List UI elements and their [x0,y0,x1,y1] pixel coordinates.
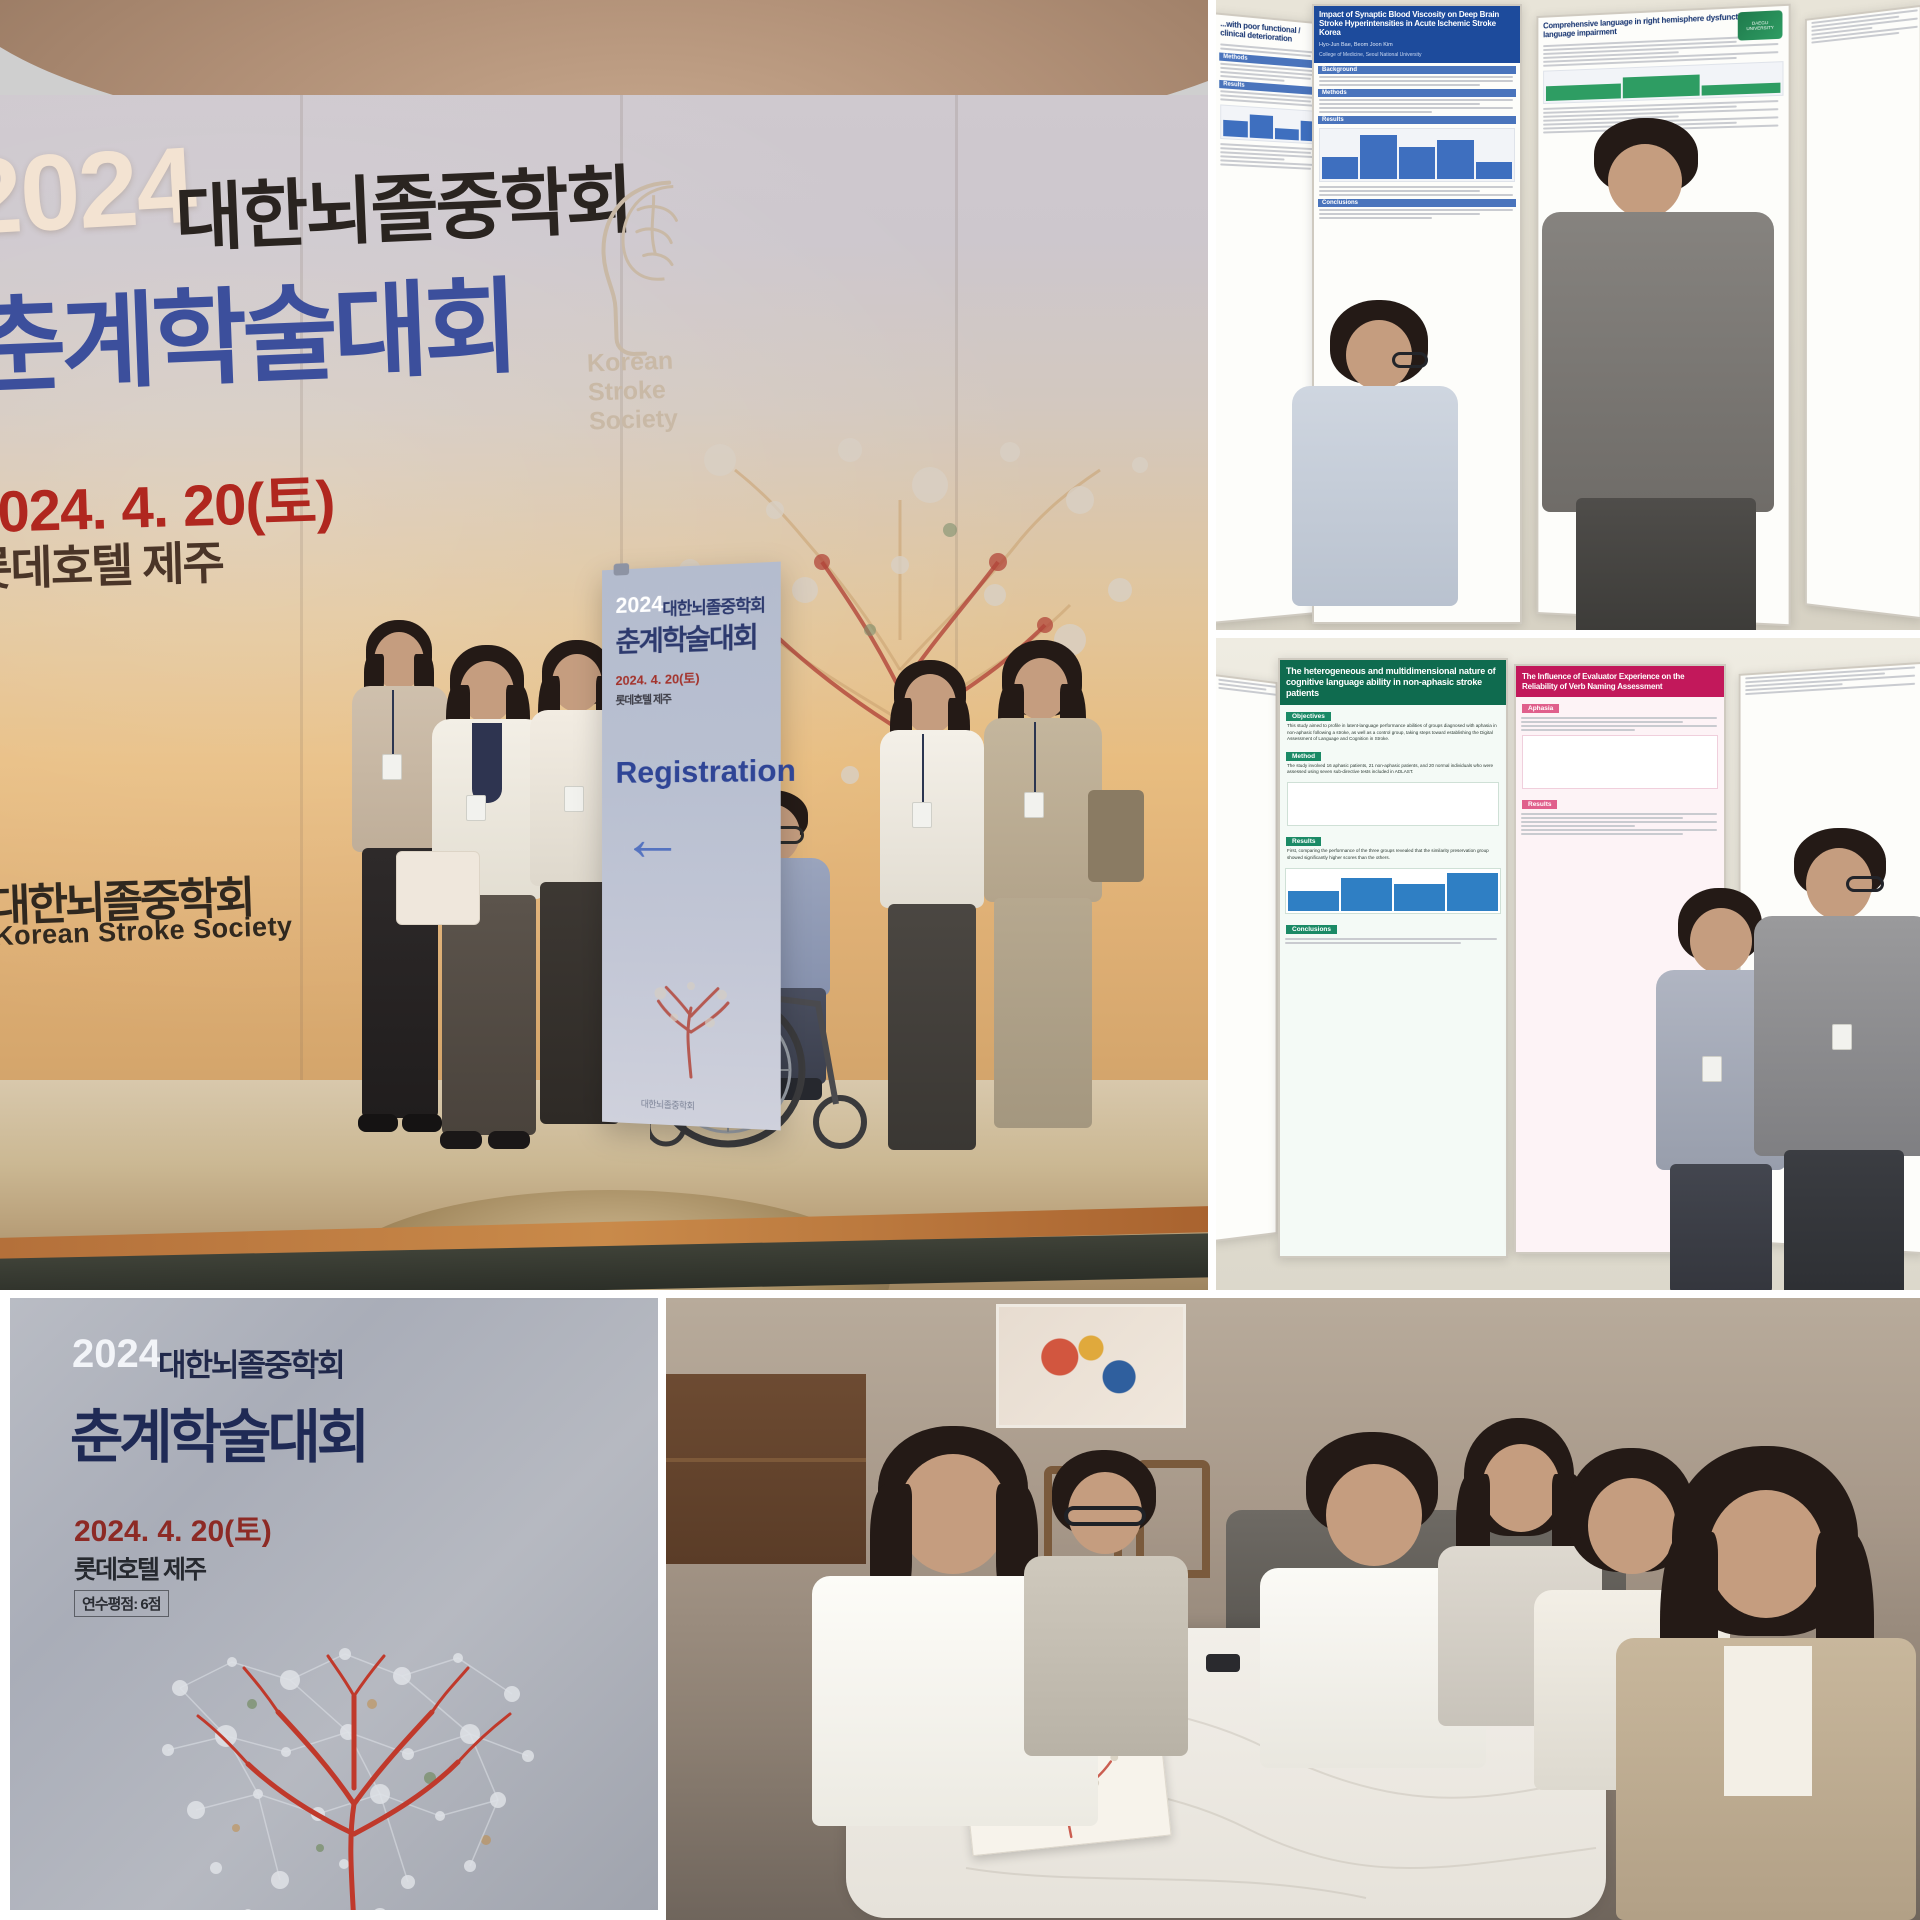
book-year: 2024 [72,1332,161,1377]
standee-footer: 대한뇌졸중학회 [641,1097,695,1112]
book-credit-badge: 연수평점: 6점 [74,1590,169,1617]
poster-b-results-text: First, comparing the performance of the … [1280,848,1506,863]
poster-b-right-section-2: Results [1522,800,1557,809]
poster-center-section-2: Methods [1318,89,1516,97]
left-arrow-icon: ← [621,806,684,870]
poster-board-b-main: The heterogeneous and multidimensional n… [1278,658,1508,1258]
eyeglasses [1064,1506,1146,1526]
poster-center-section-4: Conclusions [1318,199,1516,207]
poster-b-section-results: Results [1286,837,1321,846]
poster-b-section-method: Method [1286,752,1321,761]
banner-venue: 롯데호텔 제주 [0,526,224,599]
poster-b-section-objectives: Objectives [1286,712,1331,721]
poster-center-chart [1319,128,1515,182]
registration-standee: 2024 대한뇌졸중학회 춘계학술대회 2024. 4. 20(토) 롯데호텔 … [602,562,781,1131]
banner-title: 춘계학술대회 [0,242,517,414]
photo-panel-group-banner: 2024 대한뇌졸중학회 춘계학술대회 2024. 4. 20(토) 롯데호텔 … [0,0,1208,1290]
inner-top [1724,1646,1812,1796]
brain-vessel-network-graphic [140,1628,570,1910]
team-member-2 [1016,1450,1196,1750]
poster-center-authors: Hyo-Jun Bae, Beom Joon Kim [1314,42,1520,52]
society-mark-line-1: Korean [587,346,677,378]
photo-panel-poster-hall-a: ...with poor functional / clinical deter… [1216,0,1920,630]
poster-b-right-section-1: Aphasia [1522,704,1559,713]
poster-center-affiliation: College of Medicine, Seoul National Univ… [1314,52,1520,63]
smartphone [1206,1654,1240,1672]
eyeglasses [1392,352,1428,368]
poster-center-section-3: Results [1318,116,1516,124]
framed-artwork [996,1304,1186,1428]
team-member-6 [1616,1446,1916,1920]
poster-center-title: Impact of Synaptic Blood Viscosity on De… [1314,6,1520,42]
standee-clip [614,563,630,576]
poster-b-objectives-text: This study aimed to profile in latent-la… [1280,723,1506,745]
society-mark-text: Korean Stroke Society [587,346,679,435]
poster-left-chart [1220,105,1326,146]
poster-center-section-1: Background [1318,66,1516,74]
book-title: 춘계학술대회 [70,1390,366,1474]
standee-vessel-graphic [637,971,746,1084]
poster-viewer-2 [1536,118,1784,630]
standee-year: 2024 [616,591,664,619]
society-mark-line-3: Society [589,404,679,436]
brain-head-icon [577,162,744,367]
attendee-6 [976,640,1112,1180]
poster-b-right-table [1522,735,1718,789]
photo-panel-poster-hall-b: The heterogeneous and multidimensional n… [1216,638,1920,1290]
daegu-university-logo: DAEGU UNIVERSITY [1738,10,1783,40]
book-venue: 롯데호텔 제주 [74,1550,205,1586]
photo-panel-program-book: 2024 대한뇌졸중학회 춘계학술대회 2024. 4. 20(토) 롯데호텔 … [10,1298,658,1910]
standee-venue: 롯데호텔 제주 [616,691,671,708]
poster-b-section-conclusions: Conclusions [1286,925,1337,934]
poster-b-chart [1285,868,1501,914]
standee-title: 춘계학술대회 [616,615,757,660]
poster-b-right-title: The Influence of Evaluator Experience on… [1516,666,1724,697]
standee-registration-label: Registration [616,752,796,790]
banner-year: 2024 [0,122,198,260]
poster-viewer-1 [1274,300,1474,630]
photo-panel-team-table [666,1298,1920,1920]
poster-b-main-title: The heterogeneous and multidimensional n… [1280,660,1506,705]
eyeglasses [1846,876,1884,892]
poster-b-table [1287,782,1499,826]
poster-discussant-2 [1750,828,1920,1290]
book-date: 2024. 4. 20(토) [74,1506,272,1550]
book-organization: 대한뇌졸중학회 [158,1340,344,1385]
photo-collage: 2024 대한뇌졸중학회 춘계학술대회 2024. 4. 20(토) 롯데호텔 … [0,0,1920,1920]
handbag [1088,790,1144,882]
poster-board-b-left [1216,674,1277,1243]
standee-date: 2024. 4. 20(토) [616,668,700,689]
poster-right-chart [1543,61,1783,104]
poster-b-method-text: The study involved 16 aphasic patients, … [1280,763,1506,778]
poster-board-far-right [1805,5,1920,619]
society-mark-line-2: Stroke [588,375,678,407]
